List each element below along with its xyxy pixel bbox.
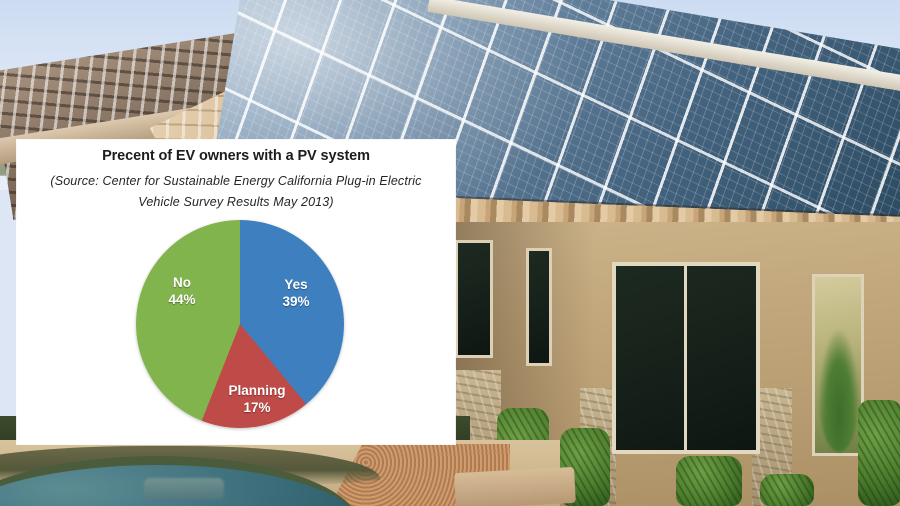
shrub — [858, 400, 900, 506]
shrub — [760, 474, 814, 506]
window-narrow — [526, 248, 552, 366]
pool-step — [144, 478, 224, 500]
pie-slice-name-yes: Yes — [264, 276, 328, 293]
window — [455, 240, 493, 358]
pie-slice-label-no: No 44% — [152, 274, 212, 308]
stone-curb — [454, 467, 576, 506]
screenshot-stage: Precent of EV owners with a PV system (S… — [0, 0, 900, 506]
pie-slice-label-planning: Planning 17% — [212, 382, 302, 416]
pie-chart: Yes 39% Planning 17% No 44% — [136, 220, 344, 428]
chart-title: Precent of EV owners with a PV system — [17, 148, 455, 164]
chart-subtitle: (Source: Center for Sustainable Energy C… — [43, 171, 429, 213]
shrub — [676, 456, 742, 506]
chart-card: Precent of EV owners with a PV system (S… — [17, 140, 455, 444]
pie-slice-value-yes: 39% — [264, 293, 328, 310]
pie-slice-value-planning: 17% — [212, 399, 302, 416]
pie-slice-name-planning: Planning — [212, 382, 302, 399]
window-reflection-foliage — [818, 330, 860, 452]
pie-slice-name-no: No — [152, 274, 212, 291]
door-mullion — [684, 266, 687, 450]
pie-slice-label-yes: Yes 39% — [264, 276, 328, 310]
pie-slice-value-no: 44% — [152, 291, 212, 308]
